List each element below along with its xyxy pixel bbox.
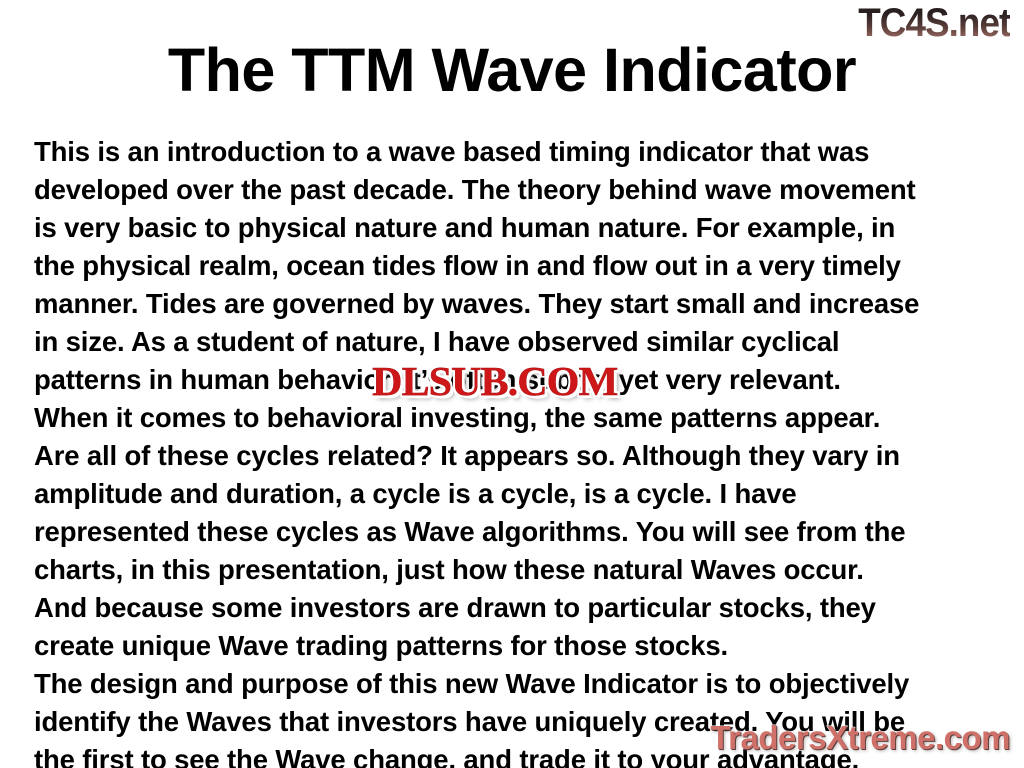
tradersxtreme-footer-logo: TradersXtreme.com	[710, 720, 1010, 756]
body-line: amplitude and duration, a cycle is a cyc…	[34, 475, 1002, 513]
body-line: This is an introduction to a wave based …	[34, 133, 1002, 171]
body-line: the physical realm, ocean tides flow in …	[34, 247, 1002, 285]
body-line: in size. As a student of nature, I have …	[34, 323, 1002, 361]
dlsub-watermark: DLSUB.COM	[372, 361, 617, 402]
page-title: The TTM Wave Indicator	[0, 36, 1024, 104]
body-line: The design and purpose of this new Wave …	[34, 665, 1002, 703]
body-line: manner. Tides are governed by waves. The…	[34, 285, 1002, 323]
body-line: Are all of these cycles related? It appe…	[34, 437, 1002, 475]
body-line: And because some investors are drawn to …	[34, 589, 1002, 627]
presentation-slide: TC4S.net The TTM Wave Indicator This is …	[0, 0, 1024, 768]
body-line: When it comes to behavioral investing, t…	[34, 399, 1002, 437]
body-line: is very basic to physical nature and hum…	[34, 209, 1002, 247]
body-line: developed over the past decade. The theo…	[34, 171, 1002, 209]
body-line: charts, in this presentation, just how t…	[34, 551, 1002, 589]
body-copy: This is an introduction to a wave based …	[34, 133, 1002, 768]
body-line: represented these cycles as Wave algorit…	[34, 513, 1002, 551]
body-line: create unique Wave trading patterns for …	[34, 627, 1002, 665]
